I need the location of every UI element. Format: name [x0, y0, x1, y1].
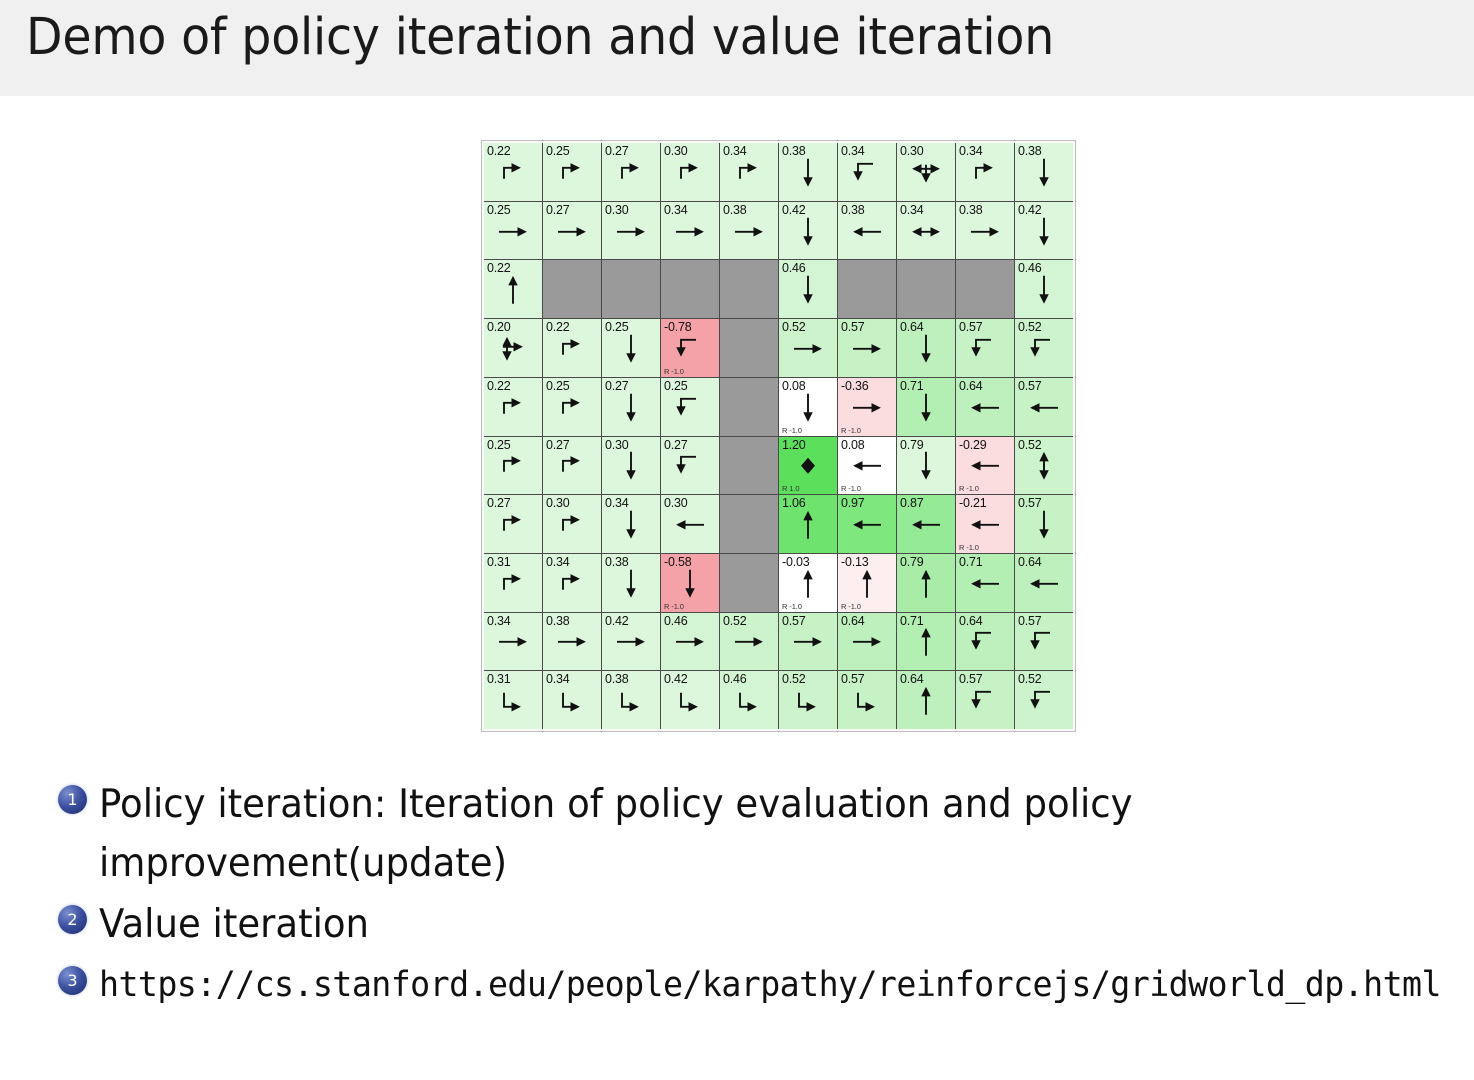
grid-cell[interactable]: 0.30: [602, 202, 660, 260]
policy-arrow-icon: [661, 671, 719, 729]
policy-arrow-icon: [897, 671, 955, 729]
policy-arrow-icon: [897, 495, 955, 553]
grid-cell[interactable]: 0.38: [956, 202, 1014, 260]
grid-cell[interactable]: 0.79: [897, 554, 955, 612]
policy-arrow-icon: [602, 613, 660, 671]
policy-arrow-icon: [543, 554, 601, 612]
grid-cell[interactable]: 0.27: [543, 202, 601, 260]
bullet-number-badge: 2: [58, 905, 87, 934]
policy-arrow-icon: [543, 437, 601, 495]
grid-cell[interactable]: 0.46: [661, 613, 719, 671]
grid-cell[interactable]: 0.52: [779, 671, 837, 729]
grid-cell[interactable]: 0.38: [602, 671, 660, 729]
grid-cell-wall: [956, 260, 1014, 318]
policy-arrow-icon: [543, 671, 601, 729]
policy-arrow-icon: [1015, 202, 1073, 260]
grid-cell[interactable]: 0.52: [1015, 319, 1073, 377]
policy-arrow-icon: [779, 319, 837, 377]
grid-cell[interactable]: 0.57: [1015, 378, 1073, 436]
grid-cell-wall: [720, 378, 778, 436]
grid-cell[interactable]: 0.64: [956, 613, 1014, 671]
grid-cell-wall: [720, 495, 778, 553]
policy-arrow-icon: [661, 202, 719, 260]
grid-cell-wall: [720, 554, 778, 612]
grid-cell[interactable]: -0.78R -1.0: [661, 319, 719, 377]
grid-cell-wall: [543, 260, 601, 318]
grid-cell-wall: [720, 260, 778, 318]
policy-arrow-icon: [602, 671, 660, 729]
policy-arrow-icon: [484, 319, 542, 377]
grid-cell[interactable]: 0.64: [956, 378, 1014, 436]
grid-cell[interactable]: 0.30: [602, 437, 660, 495]
policy-arrow-icon: [956, 437, 1014, 495]
policy-arrow-icon: [779, 378, 837, 436]
grid-cell[interactable]: 0.08R -1.0: [838, 437, 896, 495]
grid-cell[interactable]: 0.25: [484, 202, 542, 260]
grid-cell[interactable]: -0.03R -1.0: [779, 554, 837, 612]
grid-cell[interactable]: 0.34: [956, 143, 1014, 201]
grid-cell[interactable]: 0.27: [602, 378, 660, 436]
grid-cell[interactable]: 0.52: [779, 319, 837, 377]
policy-arrow-icon: [779, 495, 837, 553]
grid-cell[interactable]: -0.13R -1.0: [838, 554, 896, 612]
grid-cell[interactable]: 0.87: [897, 495, 955, 553]
policy-arrow-icon: [720, 143, 778, 201]
grid-cell[interactable]: 0.30: [897, 143, 955, 201]
grid-cell[interactable]: 0.71: [897, 378, 955, 436]
grid-cell[interactable]: 0.57: [779, 613, 837, 671]
policy-arrow-icon: [1015, 554, 1073, 612]
policy-arrow-icon: [543, 202, 601, 260]
grid-cell[interactable]: 0.30: [543, 495, 601, 553]
policy-arrow-icon: [897, 378, 955, 436]
grid-cell-wall: [897, 260, 955, 318]
policy-arrow-icon: [720, 202, 778, 260]
grid-cell[interactable]: 0.71: [897, 613, 955, 671]
grid-cell[interactable]: 0.22: [484, 378, 542, 436]
list-item: 3https://cs.stanford.edu/people/karpathy…: [58, 956, 1458, 1014]
policy-arrow-icon: [779, 613, 837, 671]
bullet-text: Value iteration: [99, 895, 1390, 954]
bullet-number-badge: 1: [58, 785, 87, 814]
grid-cell[interactable]: 0.38: [1015, 143, 1073, 201]
policy-arrow-icon: [484, 202, 542, 260]
policy-arrow-icon: [484, 378, 542, 436]
grid-cell[interactable]: 0.27: [661, 437, 719, 495]
policy-arrow-icon: [661, 143, 719, 201]
grid-cell[interactable]: 0.25: [602, 319, 660, 377]
policy-arrow-icon: [897, 613, 955, 671]
policy-arrow-icon: [484, 671, 542, 729]
grid-cell[interactable]: 0.34: [838, 143, 896, 201]
policy-arrow-icon: [1015, 671, 1073, 729]
grid-cell[interactable]: 0.52: [1015, 437, 1073, 495]
grid-cell[interactable]: 0.64: [1015, 554, 1073, 612]
grid-cell[interactable]: 0.25: [543, 378, 601, 436]
policy-arrow-icon: [1015, 143, 1073, 201]
policy-arrow-icon: [720, 671, 778, 729]
policy-arrow-icon: [602, 554, 660, 612]
gridworld-grid[interactable]: 0.220.250.270.300.340.380.340.300.340.38…: [484, 143, 1073, 729]
gridworld-panel: 0.220.250.270.300.340.380.340.300.340.38…: [481, 140, 1076, 732]
grid-cell[interactable]: 0.46: [779, 260, 837, 318]
policy-arrow-icon: [838, 613, 896, 671]
policy-arrow-icon: [838, 143, 896, 201]
grid-cell[interactable]: -0.36R -1.0: [838, 378, 896, 436]
policy-arrow-icon: [484, 554, 542, 612]
grid-cell[interactable]: 0.20: [484, 319, 542, 377]
grid-cell[interactable]: 0.64: [897, 671, 955, 729]
policy-arrow-icon: [484, 260, 542, 318]
policy-arrow-icon: [956, 554, 1014, 612]
policy-arrow-icon: [1015, 437, 1073, 495]
grid-cell[interactable]: 0.42: [661, 671, 719, 729]
grid-cell[interactable]: 0.52: [720, 613, 778, 671]
grid-cell[interactable]: -0.21R -1.0: [956, 495, 1014, 553]
grid-cell[interactable]: 0.27: [484, 495, 542, 553]
grid-cell[interactable]: 0.42: [779, 202, 837, 260]
policy-arrow-icon: [1015, 495, 1073, 553]
grid-cell[interactable]: 0.27: [543, 437, 601, 495]
list-item: 2Value iteration: [58, 895, 1458, 954]
policy-arrow-icon: [484, 143, 542, 201]
policy-arrow-icon: [602, 143, 660, 201]
grid-cell[interactable]: 0.38: [543, 613, 601, 671]
grid-cell[interactable]: 0.34: [543, 554, 601, 612]
grid-cell[interactable]: 0.52: [1015, 671, 1073, 729]
grid-cell[interactable]: 0.79: [897, 437, 955, 495]
grid-cell[interactable]: 0.34: [661, 202, 719, 260]
policy-arrow-icon: [661, 554, 719, 612]
grid-cell[interactable]: 0.57: [838, 319, 896, 377]
policy-arrow-icon: [1015, 260, 1073, 318]
grid-cell[interactable]: 0.08R -1.0: [779, 378, 837, 436]
grid-cell[interactable]: 0.57: [1015, 613, 1073, 671]
policy-arrow-icon: [484, 613, 542, 671]
policy-arrow-icon: [956, 143, 1014, 201]
policy-arrow-icon: [661, 437, 719, 495]
policy-arrow-icon: [661, 613, 719, 671]
policy-arrow-icon: [956, 319, 1014, 377]
grid-cell[interactable]: 0.30: [661, 143, 719, 201]
grid-cell[interactable]: 0.42: [602, 613, 660, 671]
policy-arrow-icon: [897, 319, 955, 377]
grid-cell[interactable]: 0.25: [543, 143, 601, 201]
policy-arrow-icon: [484, 495, 542, 553]
grid-cell[interactable]: 0.25: [661, 378, 719, 436]
grid-cell[interactable]: 0.34: [484, 613, 542, 671]
policy-arrow-icon: [838, 319, 896, 377]
policy-arrow-icon: [956, 202, 1014, 260]
grid-cell[interactable]: 0.22: [484, 260, 542, 318]
grid-cell[interactable]: 0.57: [1015, 495, 1073, 553]
bullet-number-badge: 3: [58, 966, 87, 995]
policy-arrow-icon: [897, 554, 955, 612]
policy-arrow-icon: [779, 202, 837, 260]
grid-cell[interactable]: 0.27: [602, 143, 660, 201]
policy-arrow-icon: [956, 671, 1014, 729]
policy-arrow-icon: [838, 671, 896, 729]
grid-cell[interactable]: 0.34: [897, 202, 955, 260]
grid-cell[interactable]: 1.20R 1.0: [779, 437, 837, 495]
policy-arrow-icon: [779, 437, 837, 495]
policy-arrow-icon: [838, 378, 896, 436]
policy-arrow-icon: [661, 495, 719, 553]
policy-arrow-icon: [897, 202, 955, 260]
grid-cell[interactable]: 0.71: [956, 554, 1014, 612]
policy-arrow-icon: [779, 260, 837, 318]
grid-cell[interactable]: 0.46: [1015, 260, 1073, 318]
policy-arrow-icon: [838, 554, 896, 612]
grid-cell[interactable]: 0.38: [779, 143, 837, 201]
policy-arrow-icon: [897, 143, 955, 201]
policy-arrow-icon: [956, 495, 1014, 553]
policy-arrow-icon: [602, 378, 660, 436]
policy-arrow-icon: [956, 613, 1014, 671]
grid-cell[interactable]: 0.31: [484, 554, 542, 612]
grid-cell-wall: [838, 260, 896, 318]
grid-cell[interactable]: 0.34: [602, 495, 660, 553]
list-item: 1Policy iteration: Iteration of policy e…: [58, 775, 1458, 893]
bullet-text: Policy iteration: Iteration of policy ev…: [99, 775, 1390, 893]
policy-arrow-icon: [543, 378, 601, 436]
grid-cell[interactable]: 0.38: [602, 554, 660, 612]
grid-cell-wall: [720, 319, 778, 377]
grid-cell-wall: [720, 437, 778, 495]
grid-cell[interactable]: 0.30: [661, 495, 719, 553]
grid-cell[interactable]: 1.06: [779, 495, 837, 553]
grid-cell[interactable]: 0.97: [838, 495, 896, 553]
policy-arrow-icon: [661, 378, 719, 436]
policy-arrow-icon: [779, 554, 837, 612]
bullet-list: 1Policy iteration: Iteration of policy e…: [58, 775, 1458, 1016]
grid-cell[interactable]: 0.64: [838, 613, 896, 671]
page-title: Demo of policy iteration and value itera…: [26, 8, 1054, 67]
policy-arrow-icon: [1015, 378, 1073, 436]
policy-arrow-icon: [838, 202, 896, 260]
grid-cell-wall: [661, 260, 719, 318]
grid-cell[interactable]: -0.58R -1.0: [661, 554, 719, 612]
policy-arrow-icon: [1015, 319, 1073, 377]
grid-cell[interactable]: 0.34: [543, 671, 601, 729]
grid-cell[interactable]: 0.34: [720, 143, 778, 201]
grid-cell[interactable]: 0.22: [543, 319, 601, 377]
policy-arrow-icon: [661, 319, 719, 377]
grid-cell[interactable]: 0.22: [484, 143, 542, 201]
policy-arrow-icon: [956, 378, 1014, 436]
policy-arrow-icon: [779, 671, 837, 729]
policy-arrow-icon: [602, 495, 660, 553]
policy-arrow-icon: [543, 495, 601, 553]
grid-cell[interactable]: 0.42: [1015, 202, 1073, 260]
policy-arrow-icon: [543, 613, 601, 671]
slide: Demo of policy iteration and value itera…: [0, 0, 1474, 1080]
policy-arrow-icon: [720, 613, 778, 671]
bullet-link-text[interactable]: https://cs.stanford.edu/people/karpathy/…: [99, 956, 1441, 1014]
policy-arrow-icon: [1015, 613, 1073, 671]
policy-arrow-icon: [838, 437, 896, 495]
grid-cell[interactable]: -0.29R -1.0: [956, 437, 1014, 495]
slide-title-bar: Demo of policy iteration and value itera…: [0, 0, 1474, 97]
policy-arrow-icon: [602, 202, 660, 260]
policy-arrow-icon: [484, 437, 542, 495]
grid-cell-wall: [602, 260, 660, 318]
policy-arrow-icon: [602, 319, 660, 377]
grid-cell[interactable]: 0.57: [956, 319, 1014, 377]
grid-cell[interactable]: 0.31: [484, 671, 542, 729]
policy-arrow-icon: [543, 319, 601, 377]
policy-arrow-icon: [897, 437, 955, 495]
grid-cell[interactable]: 0.38: [720, 202, 778, 260]
policy-arrow-icon: [543, 143, 601, 201]
grid-cell[interactable]: 0.25: [484, 437, 542, 495]
policy-arrow-icon: [779, 143, 837, 201]
grid-cell[interactable]: 0.57: [838, 671, 896, 729]
grid-cell[interactable]: 0.46: [720, 671, 778, 729]
policy-arrow-icon: [602, 437, 660, 495]
grid-cell[interactable]: 0.57: [956, 671, 1014, 729]
grid-cell[interactable]: 0.64: [897, 319, 955, 377]
policy-arrow-icon: [838, 495, 896, 553]
grid-cell[interactable]: 0.38: [838, 202, 896, 260]
